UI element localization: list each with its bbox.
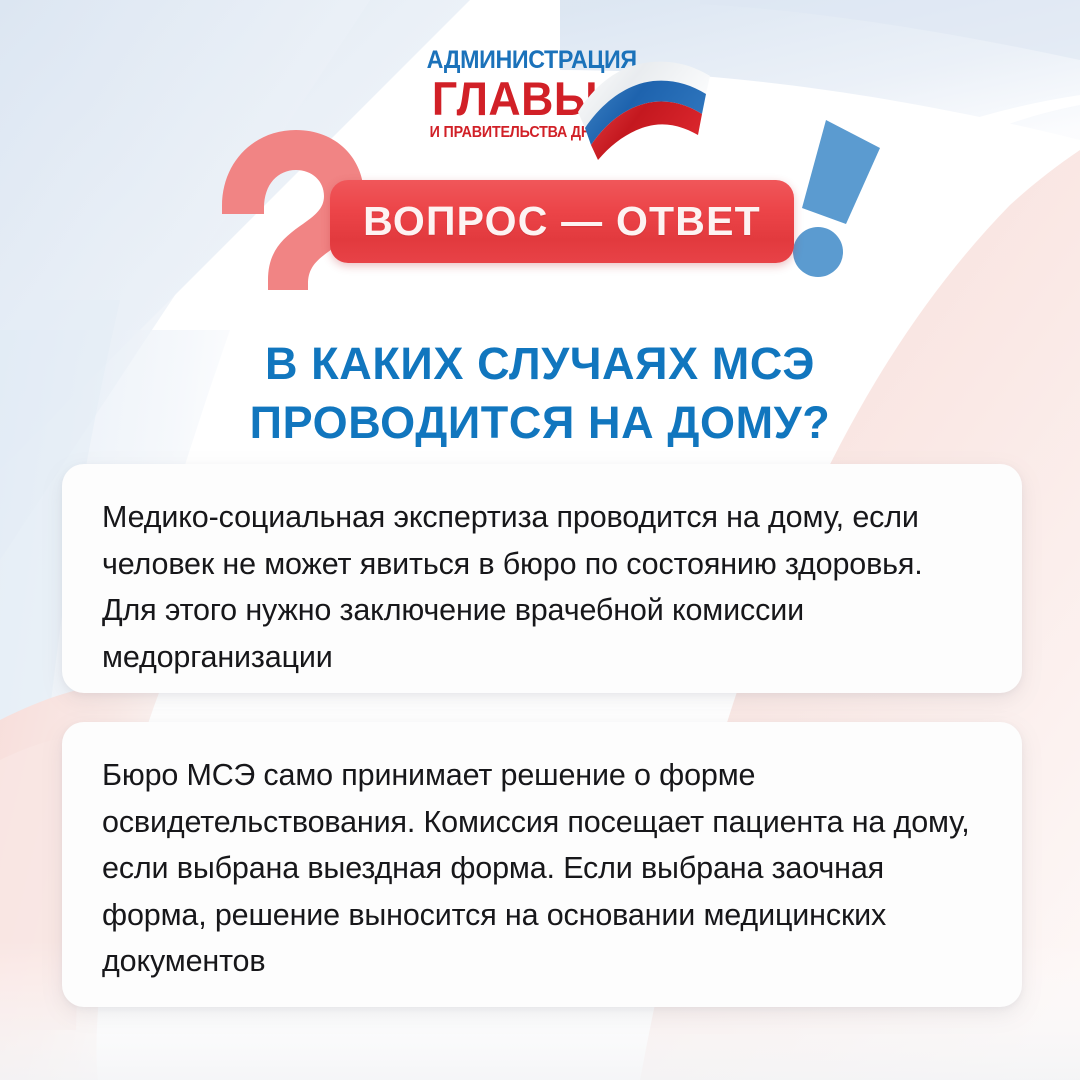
answer-card-2-text: Бюро МСЭ само принимает решение о форме … (102, 752, 982, 985)
answer-card-1-text: Медико-социальная экспертиза проводится … (102, 494, 982, 680)
question-answer-banner-label: ВОПРОС — ОТВЕТ (363, 201, 761, 242)
infographic-canvas: АДМИНИСТРАЦИЯ ГЛАВЫ И ПРАВИТЕЛЬСТВА ДНР (0, 0, 1080, 1080)
headline-line-1: В КАКИХ СЛУЧАЯХ МСЭ (90, 335, 990, 394)
main-question-heading: В КАКИХ СЛУЧАЯХ МСЭ ПРОВОДИТСЯ НА ДОМУ? (90, 335, 990, 452)
answer-card-2: Бюро МСЭ само принимает решение о форме … (62, 722, 1022, 1007)
question-answer-banner[interactable]: ВОПРОС — ОТВЕТ (330, 180, 794, 263)
exclamation-mark-icon (788, 112, 918, 277)
answer-card-1: Медико-социальная экспертиза проводится … (62, 464, 1022, 693)
administration-logo: АДМИНИСТРАЦИЯ ГЛАВЫ И ПРАВИТЕЛЬСТВА ДНР (408, 48, 708, 166)
russian-tricolor-flag-icon (576, 50, 712, 162)
headline-line-2: ПРОВОДИТСЯ НА ДОМУ? (90, 394, 990, 453)
